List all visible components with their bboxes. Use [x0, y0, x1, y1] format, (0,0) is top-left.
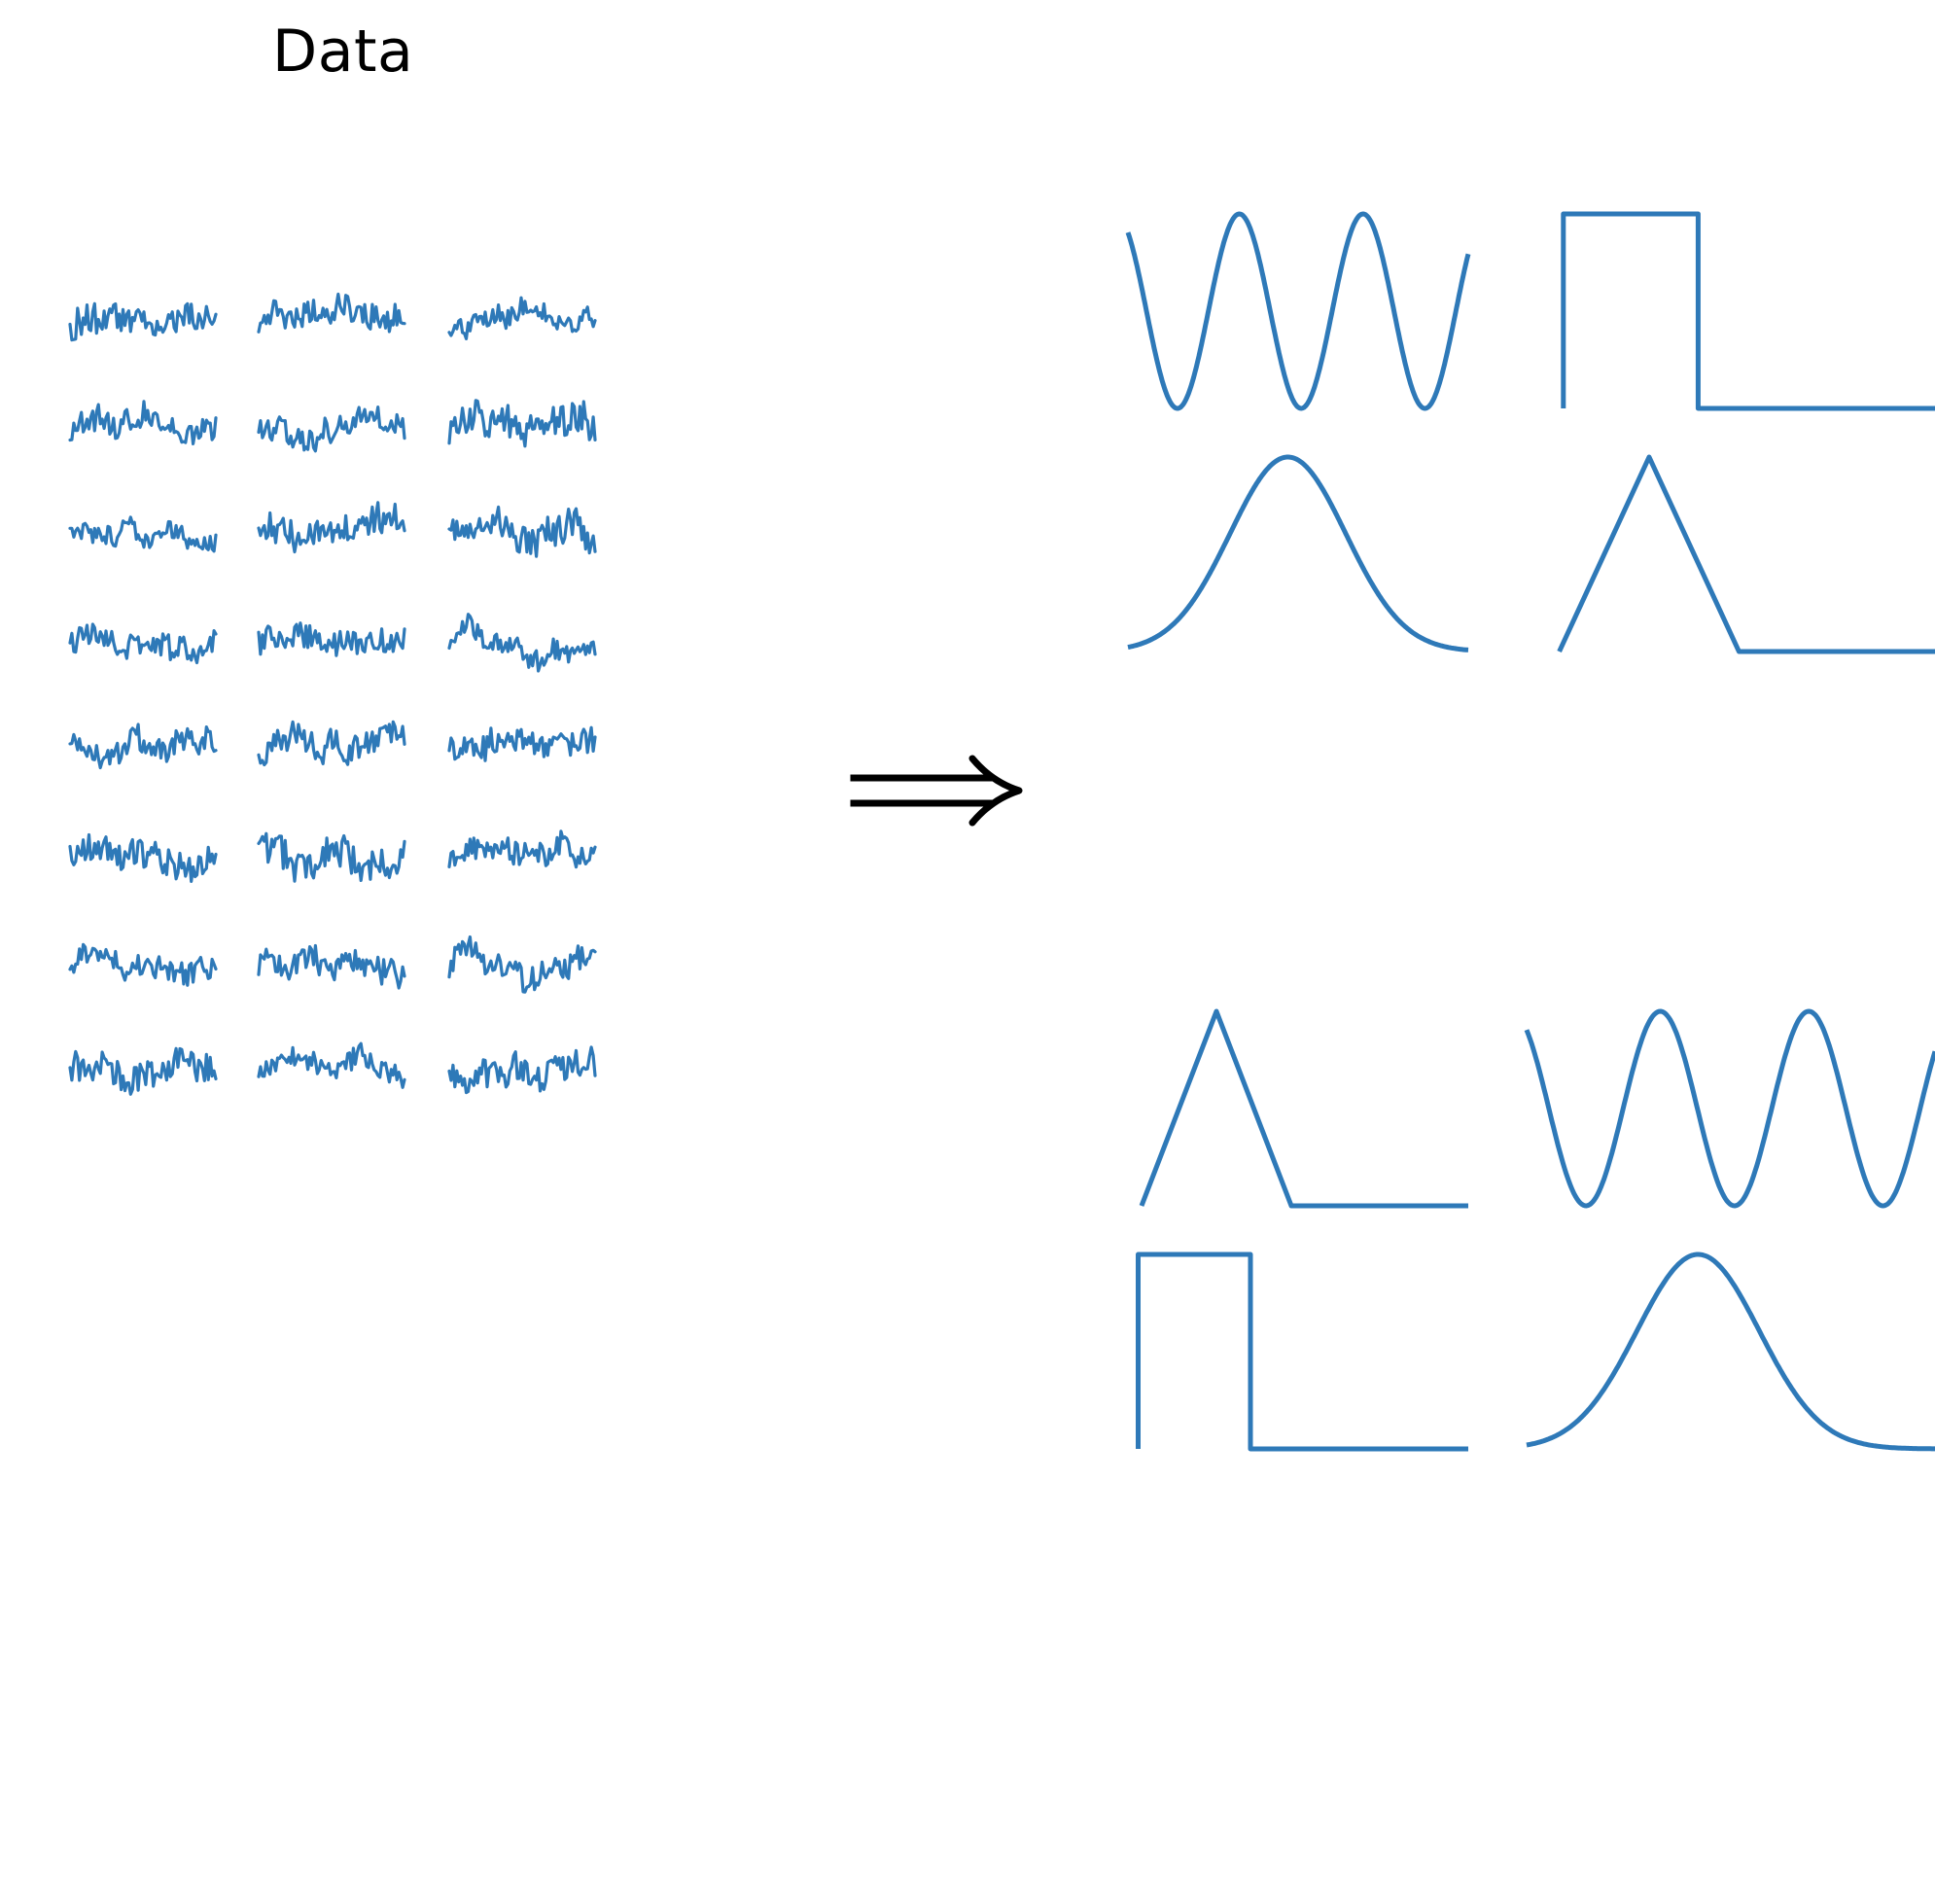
data-trace — [259, 407, 405, 451]
data-trace — [70, 303, 216, 339]
data-trace — [449, 727, 595, 760]
data-trace — [70, 724, 216, 768]
truth-waveform-grid — [1099, 972, 1935, 1556]
truth-panel: Truth — [1099, 972, 1935, 1556]
waveform-square-top-right — [1564, 214, 1935, 408]
waveform-triangle-top-left — [1142, 1011, 1468, 1206]
results-waveform-grid — [1099, 175, 1935, 758]
data-trace — [449, 937, 595, 993]
data-trace — [259, 722, 405, 764]
waveform-gaussian-bottom-right — [1527, 1254, 1935, 1449]
data-trace — [449, 1047, 595, 1093]
results-panel: Results — [1099, 175, 1935, 758]
data-trace — [449, 831, 595, 867]
data-trace — [70, 944, 216, 985]
data-trace — [449, 298, 595, 338]
data-trace — [449, 507, 595, 556]
data-trace — [70, 835, 216, 882]
data-trace — [259, 295, 405, 333]
waveform-square-bottom-left — [1139, 1254, 1469, 1449]
waveform-sine-top-left — [1128, 214, 1468, 408]
data-trace — [70, 624, 216, 663]
data-trace — [70, 517, 216, 551]
data-traces-panel: Data — [0, 0, 739, 1556]
data-trace — [259, 946, 405, 989]
data-trace — [70, 1048, 216, 1094]
waveform-triangle-bottom-right — [1560, 457, 1935, 652]
double-right-arrow-icon — [836, 739, 1050, 856]
waveform-sine-top-right — [1527, 1011, 1935, 1206]
data-trace — [449, 401, 595, 446]
data-title: Data — [272, 18, 413, 86]
data-trace — [259, 623, 405, 655]
data-trace — [259, 503, 405, 552]
waveform-gaussian-bottom-left — [1128, 457, 1468, 650]
data-trace — [70, 402, 216, 444]
data-trace-grid — [0, 0, 739, 1556]
data-trace — [259, 833, 405, 881]
mapping-arrow — [836, 739, 1050, 856]
data-trace — [449, 615, 595, 671]
data-trace — [259, 1043, 405, 1087]
